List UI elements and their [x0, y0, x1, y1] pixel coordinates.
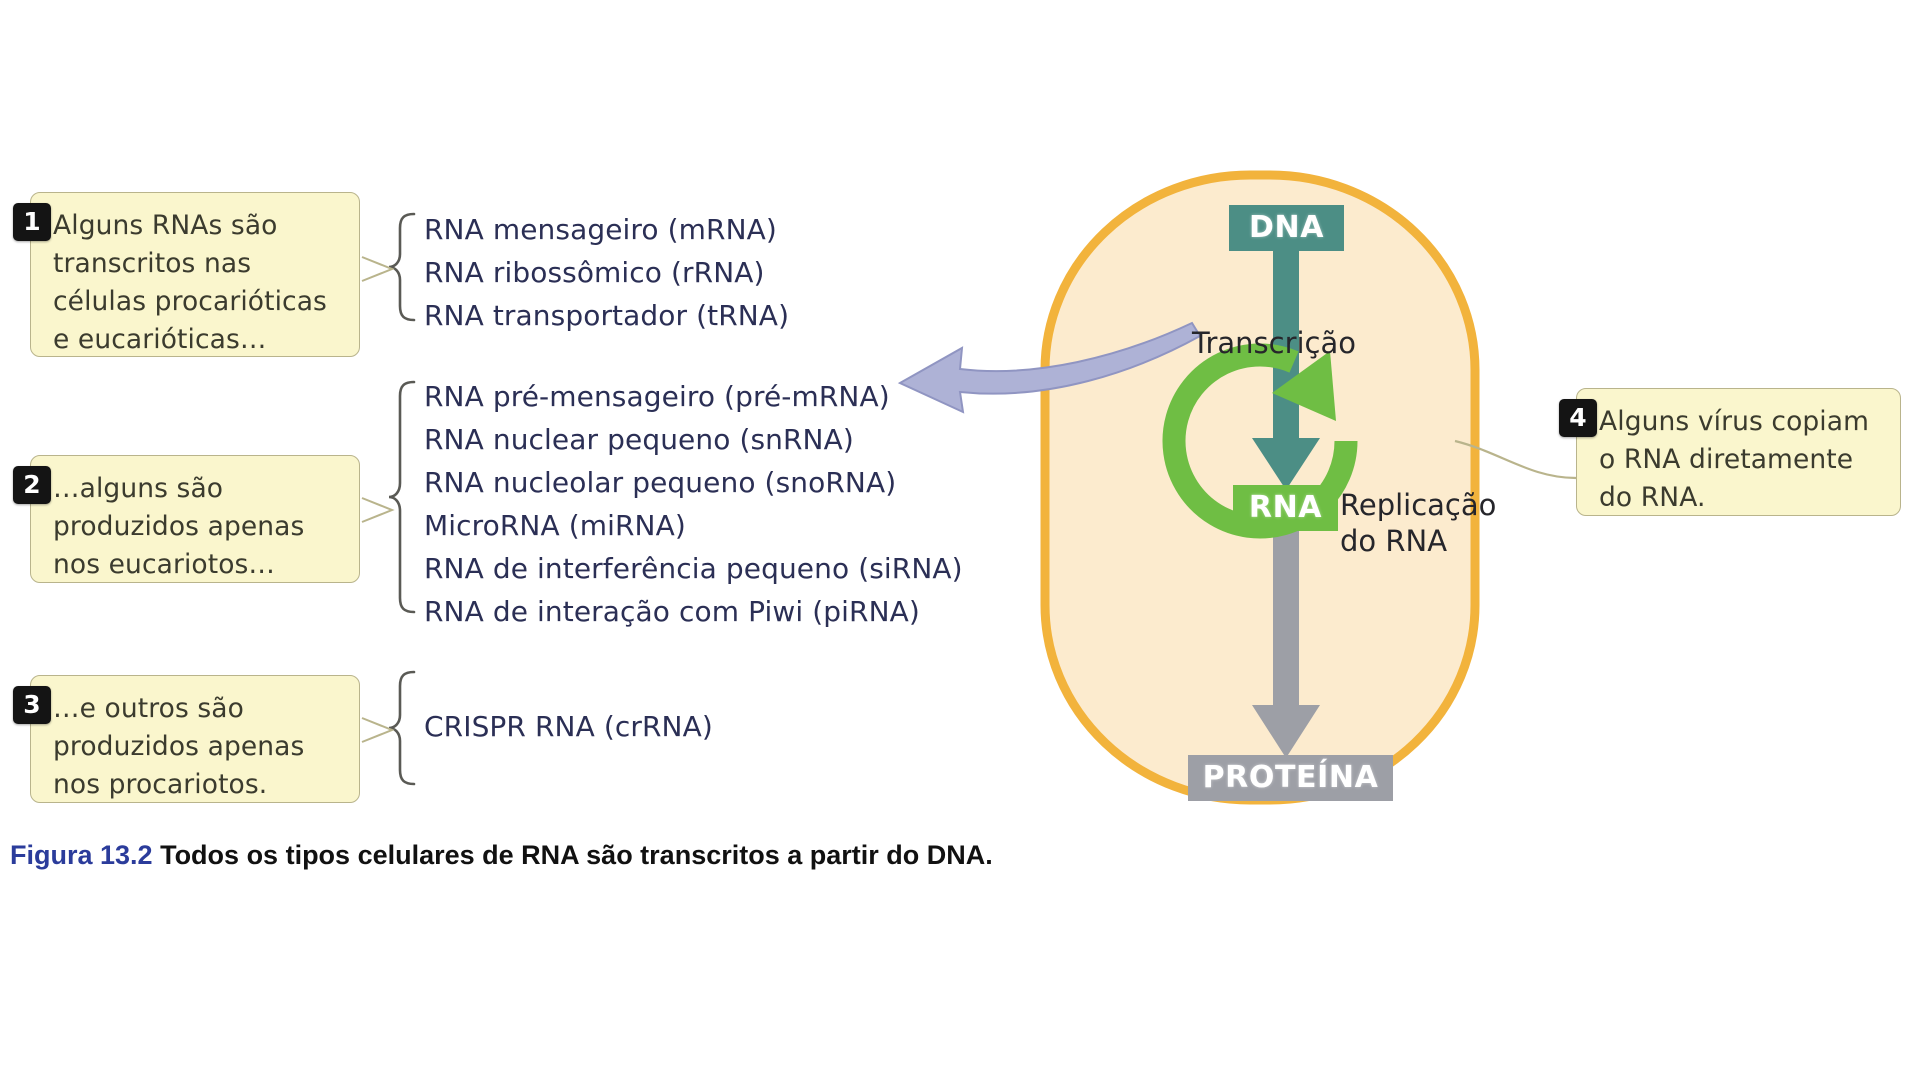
callout-text-3: …e outros são produzidos apenas nos proc…: [53, 690, 343, 804]
replication-arrowhead-icon: [1272, 351, 1336, 421]
callout-badge-2: 2: [13, 466, 51, 504]
replication-label: Replicação do RNA: [1340, 487, 1496, 559]
callout-text-4: Alguns vírus copiam o RNA diretamente do…: [1599, 403, 1884, 517]
callout-text-1: Alguns RNAs são transcritos nas células …: [53, 207, 343, 359]
dna-label-box: DNA: [1229, 205, 1344, 251]
figure-caption-text: Todos os tipos celulares de RNA são tran…: [160, 840, 993, 870]
protein-label-box: PROTEÍNA: [1188, 755, 1393, 801]
callout3-pointer: [362, 718, 392, 742]
brace-group-3: [389, 672, 414, 784]
callout-badge-1: 1: [13, 203, 51, 241]
callout-box-4[interactable]: 4 Alguns vírus copiam o RNA diretamente …: [1576, 388, 1901, 516]
callout-badge-3: 3: [13, 686, 51, 724]
translation-arrow-icon: [1252, 505, 1320, 758]
callout-badge-4: 4: [1559, 399, 1597, 437]
rna-group-1-list: RNA mensageiro (mRNA) RNA ribossômico (r…: [424, 208, 789, 337]
callout1-pointer: [362, 257, 392, 281]
rna-group-2-list: RNA pré-mensageiro (pré-mRNA) RNA nuclea…: [424, 375, 963, 633]
callout4-connector-line: [1455, 441, 1576, 478]
figure-caption: Figura 13.2 Todos os tipos celulares de …: [10, 840, 993, 871]
callout2-pointer: [362, 498, 392, 522]
figure-number: Figura 13.2: [10, 840, 153, 870]
callout-box-2[interactable]: 2 …alguns são produzidos apenas nos euca…: [30, 455, 360, 583]
brace-group-1: [389, 214, 414, 320]
callout-text-2: …alguns são produzidos apenas nos eucari…: [53, 470, 343, 584]
brace-group-2: [389, 382, 414, 612]
rna-group-3-list: CRISPR RNA (crRNA): [424, 705, 713, 748]
callout-box-3[interactable]: 3 …e outros são produzidos apenas nos pr…: [30, 675, 360, 803]
figure-canvas: 1 Alguns RNAs são transcritos nas célula…: [0, 0, 1920, 1080]
callout-box-1[interactable]: 1 Alguns RNAs são transcritos nas célula…: [30, 192, 360, 357]
transcription-label: Transcrição: [1192, 325, 1356, 361]
rna-label-box: RNA: [1233, 485, 1338, 531]
